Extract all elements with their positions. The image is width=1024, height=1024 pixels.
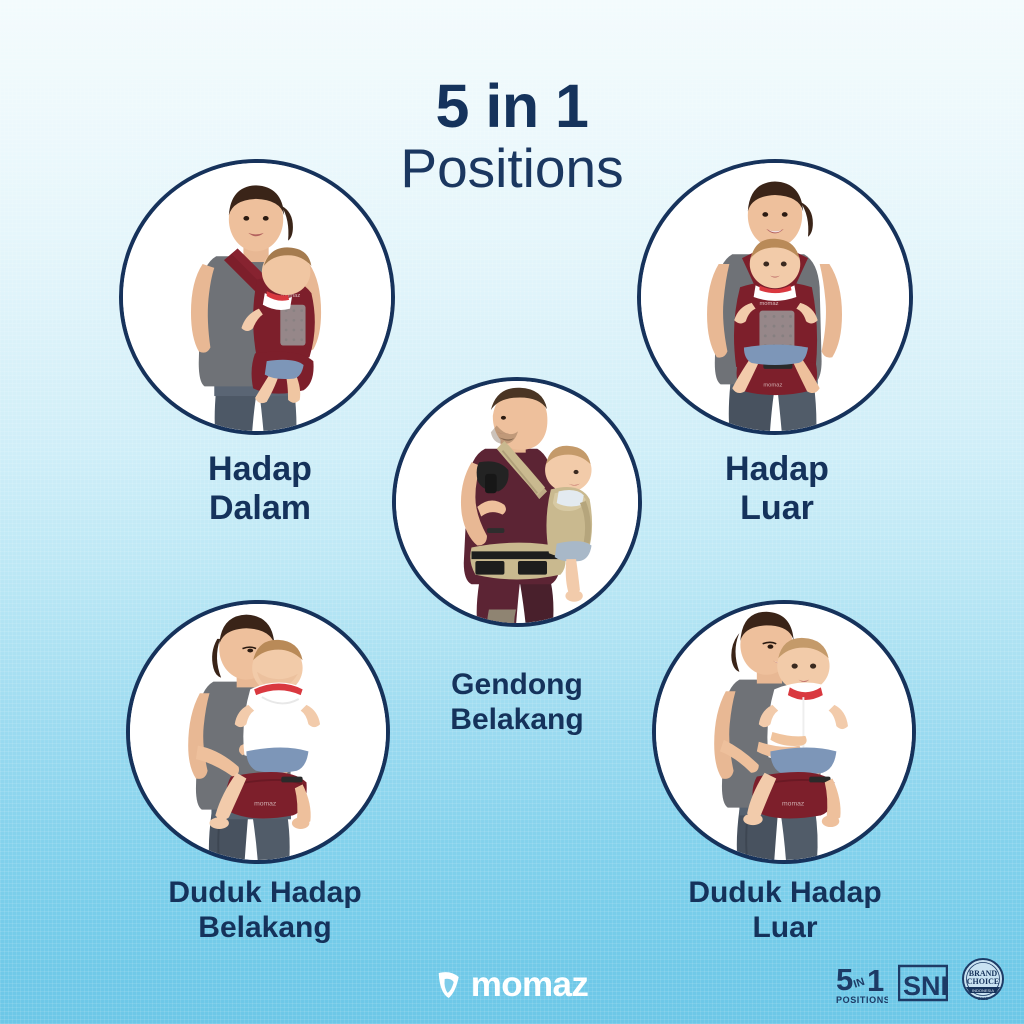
photo-circle-duduk-hadap-luar: momaz bbox=[652, 600, 916, 864]
svg-text:momaz: momaz bbox=[782, 801, 805, 808]
mother-baby-hipseat-outward-photo: momaz bbox=[656, 604, 912, 860]
position-label-hadap-luar: Hadap Luar bbox=[637, 450, 917, 529]
mother-baby-inward-facing-carrier-photo: momaz momaz bbox=[123, 163, 391, 431]
father-baby-back-carry-photo bbox=[396, 381, 638, 623]
badge-5in1-caption: POSITIONS bbox=[836, 995, 888, 1005]
position-label-duduk-hadap-belakang: Duduk Hadap Belakang bbox=[100, 876, 430, 946]
position-label-hadap-dalam: Hadap Dalam bbox=[120, 450, 400, 529]
badge-brand-choice-year: 2022 bbox=[978, 996, 989, 1001]
photo-circle-hadap-dalam: momaz momaz bbox=[119, 159, 395, 435]
brand-logo: momaz bbox=[436, 967, 589, 1002]
svg-text:momaz: momaz bbox=[759, 301, 778, 307]
page-title: 5 in 1 Positions bbox=[0, 76, 1024, 198]
title-line-1: 5 in 1 bbox=[0, 76, 1024, 137]
badge-five-in-one-positions: 5 IN 1 POSITIONS bbox=[836, 960, 888, 1006]
badge-brand-choice-line2: CHOICE bbox=[967, 977, 999, 986]
badge-5in1-middle: IN bbox=[852, 976, 866, 991]
badge-5in1-number-left: 5 bbox=[836, 962, 853, 997]
certification-badges: 5 IN 1 POSITIONS SNI BRAND CHOICE INDONE… bbox=[836, 956, 1008, 1006]
svg-text:momaz: momaz bbox=[254, 801, 277, 808]
position-label-duduk-hadap-luar: Duduk Hadap Luar bbox=[620, 876, 950, 946]
photo-circle-hadap-luar: momaz momaz bbox=[637, 159, 913, 435]
brand-name: momaz bbox=[471, 967, 589, 1002]
badge-sni-text: SNI bbox=[903, 971, 948, 1001]
momaz-leaf-mark-icon bbox=[436, 970, 462, 1000]
mother-baby-outward-facing-carrier-photo: momaz momaz bbox=[641, 163, 909, 431]
badge-brand-choice: BRAND CHOICE INDONESIA 2022 bbox=[958, 956, 1008, 1006]
footer: momaz 5 IN 1 POSITIONS SNI BRAND CHOICE … bbox=[0, 944, 1024, 1024]
badge-5in1-number-right: 1 bbox=[867, 963, 884, 998]
position-label-gendong-belakang: Gendong Belakang bbox=[392, 668, 642, 738]
badge-brand-choice-ribbon: INDONESIA bbox=[972, 988, 994, 993]
mother-baby-hipseat-inward-photo: momaz bbox=[130, 604, 386, 860]
svg-text:momaz: momaz bbox=[763, 382, 782, 388]
photo-circle-gendong-belakang bbox=[392, 377, 642, 627]
photo-circle-duduk-hadap-belakang: momaz bbox=[126, 600, 390, 864]
title-line-2: Positions bbox=[0, 139, 1024, 198]
badge-sni: SNI bbox=[898, 962, 948, 1006]
